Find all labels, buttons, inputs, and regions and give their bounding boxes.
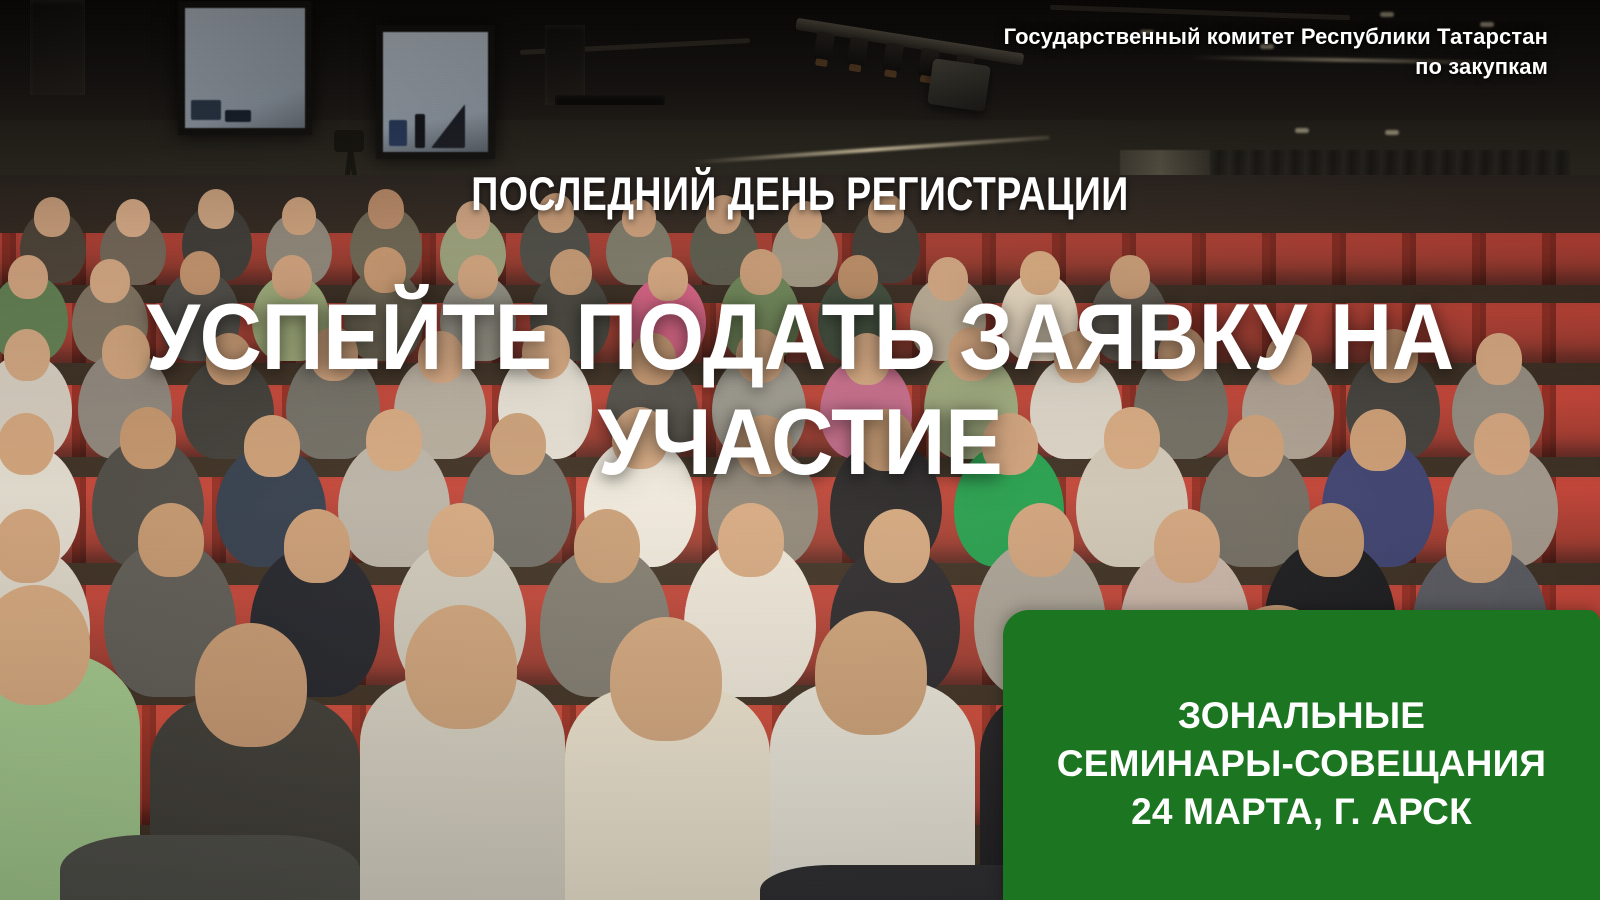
- ceiling-light: [1380, 12, 1394, 17]
- audience-head: [405, 605, 517, 729]
- audience-head: [610, 617, 722, 741]
- booth-equipment: [431, 104, 465, 148]
- event-info-text: ЗОНАЛЬНЫЕ СЕМИНАРЫ-СОВЕЩАНИЯ 24 МАРТА, Г…: [1049, 692, 1554, 836]
- ceiling-light: [1295, 128, 1309, 133]
- dark-window: [30, 0, 85, 95]
- projection-booth-window: [185, 8, 305, 128]
- audience-head: [1008, 503, 1074, 577]
- audience-head: [34, 197, 70, 237]
- booth-equipment: [415, 114, 425, 148]
- camera-head: [334, 130, 364, 152]
- ceiling-light: [1385, 130, 1399, 135]
- audience-head: [116, 199, 150, 237]
- projection-booth-window: [383, 32, 488, 152]
- audience-head: [138, 503, 204, 577]
- audience-head: [428, 503, 494, 577]
- audience-head: [0, 509, 60, 583]
- dark-window: [545, 25, 585, 105]
- kicker-text: ПОСЛЕДНИЙ ДЕНЬ РЕГИСТРАЦИИ: [160, 166, 1440, 221]
- headline-text: УСПЕЙТЕ ПОДАТЬ ЗАЯВКУ НА УЧАСТИЕ: [101, 284, 1499, 495]
- audience-head: [864, 509, 930, 583]
- event-info-card: ЗОНАЛЬНЫЕ СЕМИНАРЫ-СОВЕЩАНИЯ 24 МАРТА, Г…: [1003, 610, 1600, 900]
- audience-head: [8, 255, 48, 299]
- audience-head: [1446, 509, 1512, 583]
- audience-head: [1298, 503, 1364, 577]
- audience-head: [195, 623, 307, 747]
- audience-head: [0, 413, 54, 475]
- organization-title: Государственный комитет Республики Татар…: [828, 22, 1548, 82]
- booth-equipment: [191, 100, 221, 120]
- audience-head: [284, 509, 350, 583]
- audience-head: [815, 611, 927, 735]
- booth-equipment: [389, 120, 407, 146]
- audience-head: [1154, 509, 1220, 583]
- audience-member-foreground: [60, 835, 360, 900]
- dark-window: [555, 95, 665, 105]
- audience-head: [4, 329, 50, 381]
- audience-head: [574, 509, 640, 583]
- audience-head: [718, 503, 784, 577]
- announcement-banner: Государственный комитет Республики Татар…: [0, 0, 1600, 900]
- booth-equipment: [225, 110, 251, 122]
